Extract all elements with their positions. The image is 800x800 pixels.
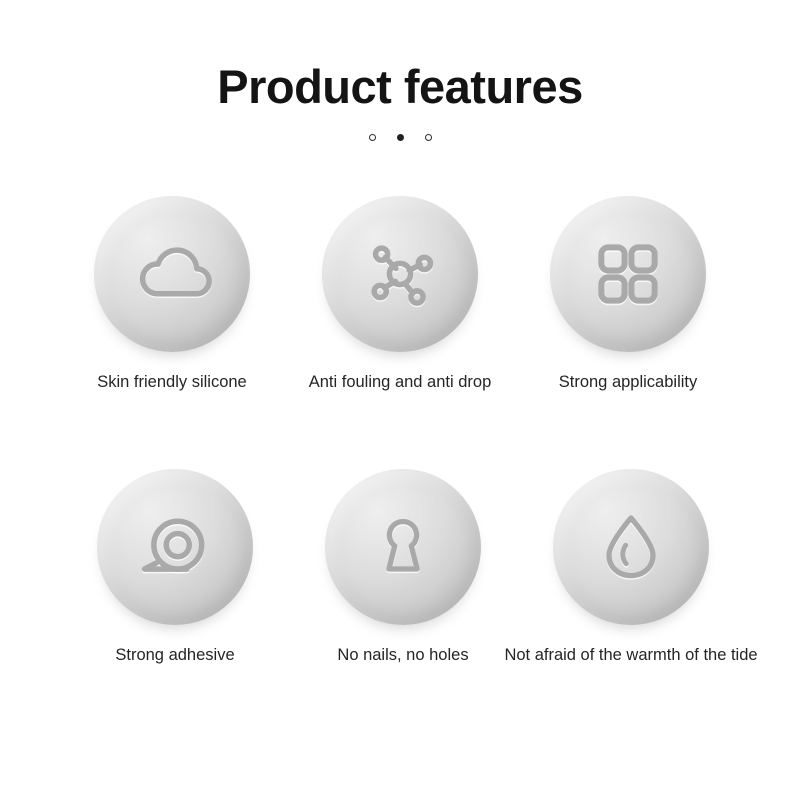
- feature-label: Strong adhesive: [115, 645, 234, 666]
- page-title: Product features: [0, 62, 800, 111]
- feature-icon-badge: [322, 196, 478, 352]
- feature-item-anti-fouling-anti-drop[interactable]: Anti fouling and anti drop: [286, 196, 514, 393]
- product-features-page: Product features: [0, 0, 800, 800]
- feature-label: Strong applicability: [559, 372, 698, 393]
- keyhole-icon: [325, 469, 481, 625]
- feature-icon-badge: [97, 469, 253, 625]
- tape-roll-icon: [97, 469, 253, 625]
- molecule-icon: [322, 196, 478, 352]
- feature-item-strong-adhesive[interactable]: Strong adhesive: [61, 469, 289, 666]
- feature-item-strong-applicability[interactable]: Strong applicability: [514, 196, 742, 393]
- cloud-icon: [94, 196, 250, 352]
- feature-item-skin-friendly-silicone[interactable]: Skin friendly silicone: [58, 196, 286, 393]
- feature-icon-badge: [550, 196, 706, 352]
- feature-label: No nails, no holes: [337, 645, 468, 666]
- pagination-dots: [0, 131, 800, 143]
- pagination-dot-1[interactable]: [369, 134, 376, 141]
- page-header: Product features: [0, 62, 800, 143]
- feature-icon-badge: [553, 469, 709, 625]
- pagination-dot-2[interactable]: [397, 134, 404, 141]
- feature-item-no-nails-no-holes[interactable]: No nails, no holes: [289, 469, 517, 666]
- feature-label: Anti fouling and anti drop: [309, 372, 492, 393]
- feature-row-top: Skin friendly silicone: [0, 196, 800, 393]
- feature-icon-badge: [325, 469, 481, 625]
- feature-row-bottom: Strong adhesive No nails, no holes: [6, 469, 800, 666]
- feature-label: Skin friendly silicone: [97, 372, 246, 393]
- feature-label: Not afraid of the warmth of the tide: [504, 645, 757, 666]
- feature-icon-badge: [94, 196, 250, 352]
- feature-item-not-afraid-warmth-tide[interactable]: Not afraid of the warmth of the tide: [517, 469, 745, 666]
- water-drop-icon: [553, 469, 709, 625]
- grid-icon: [550, 196, 706, 352]
- pagination-dot-3[interactable]: [425, 134, 432, 141]
- feature-grid: Skin friendly silicone: [0, 196, 800, 665]
